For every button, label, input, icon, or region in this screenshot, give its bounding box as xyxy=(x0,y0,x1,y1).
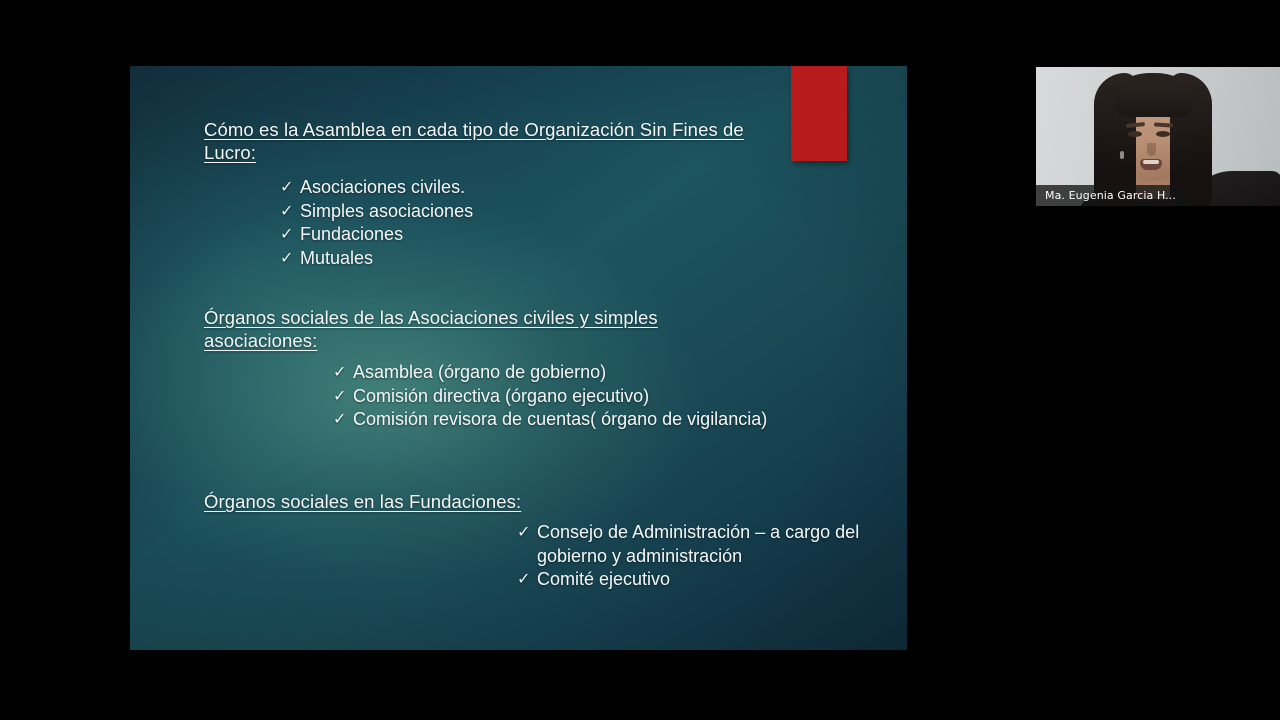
checkmark-icon: ✓ xyxy=(333,385,353,409)
participant-name-badge: Ma. Eugenia Garcia H... xyxy=(1036,185,1185,206)
checkmark-icon: ✓ xyxy=(333,408,353,432)
slide-heading-1-text: Cómo es la Asamblea en cada tipo de Orga… xyxy=(204,119,744,163)
checkmark-icon: ✓ xyxy=(280,176,300,200)
slide-heading-1: Cómo es la Asamblea en cada tipo de Orga… xyxy=(204,118,784,164)
slide-bullet-group-3: ✓ Consejo de Administración – a cargo de… xyxy=(517,521,867,592)
list-item: ✓ Asamblea (órgano de gobierno) xyxy=(333,361,767,385)
slide-heading-2-text: Órganos sociales de las Asociaciones civ… xyxy=(204,307,658,351)
checkmark-icon: ✓ xyxy=(517,521,537,545)
list-item: ✓ Asociaciones civiles. xyxy=(280,176,473,200)
nose-shape xyxy=(1147,143,1156,156)
checkmark-icon: ✓ xyxy=(517,568,537,592)
list-item-label: Fundaciones xyxy=(300,223,403,247)
eye-right-shape xyxy=(1156,131,1170,137)
list-item: ✓ Mutuales xyxy=(280,247,473,271)
checkmark-icon: ✓ xyxy=(280,247,300,271)
eye-left-shape xyxy=(1128,131,1142,137)
fringe-shape xyxy=(1114,81,1194,117)
list-item: ✓ Fundaciones xyxy=(280,223,473,247)
shared-screen-slide[interactable]: Cómo es la Asamblea en cada tipo de Orga… xyxy=(130,66,907,650)
list-item: ✓ Comisión directiva (órgano ejecutivo) xyxy=(333,385,767,409)
slide-bullet-group-1: ✓ Asociaciones civiles. ✓ Simples asocia… xyxy=(280,176,473,270)
teeth-shape xyxy=(1143,160,1159,164)
app-window: Cómo es la Asamblea en cada tipo de Orga… xyxy=(0,0,1280,720)
list-item: ✓ Comisión revisora de cuentas( órgano d… xyxy=(333,408,767,432)
slide-heading-3: Órganos sociales en las Fundaciones: xyxy=(204,490,724,513)
slide-heading-2: Órganos sociales de las Asociaciones civ… xyxy=(204,306,704,352)
list-item: ✓ Simples asociaciones xyxy=(280,200,473,224)
list-item-label: Asociaciones civiles. xyxy=(300,176,465,200)
earring-shape xyxy=(1120,151,1124,159)
list-item: ✓ Consejo de Administración – a cargo de… xyxy=(517,521,867,568)
checkmark-icon: ✓ xyxy=(280,200,300,224)
list-item: ✓ Comité ejecutivo xyxy=(517,568,867,592)
list-item-label: Mutuales xyxy=(300,247,373,271)
list-item-label: Comisión revisora de cuentas( órgano de … xyxy=(353,408,767,432)
list-item-label: Consejo de Administración – a cargo del … xyxy=(537,521,867,568)
list-item-label: Simples asociaciones xyxy=(300,200,473,224)
list-item-label: Asamblea (órgano de gobierno) xyxy=(353,361,606,385)
participant-video-tile[interactable]: Ma. Eugenia Garcia H... xyxy=(1036,67,1280,206)
slide-bullet-group-2: ✓ Asamblea (órgano de gobierno) ✓ Comisi… xyxy=(333,361,767,432)
checkmark-icon: ✓ xyxy=(333,361,353,385)
slide-heading-3-text: Órganos sociales en las Fundaciones: xyxy=(204,491,521,512)
list-item-label: Comité ejecutivo xyxy=(537,568,670,592)
slide-content: Cómo es la Asamblea en cada tipo de Orga… xyxy=(130,66,907,650)
checkmark-icon: ✓ xyxy=(280,223,300,247)
list-item-label: Comisión directiva (órgano ejecutivo) xyxy=(353,385,649,409)
